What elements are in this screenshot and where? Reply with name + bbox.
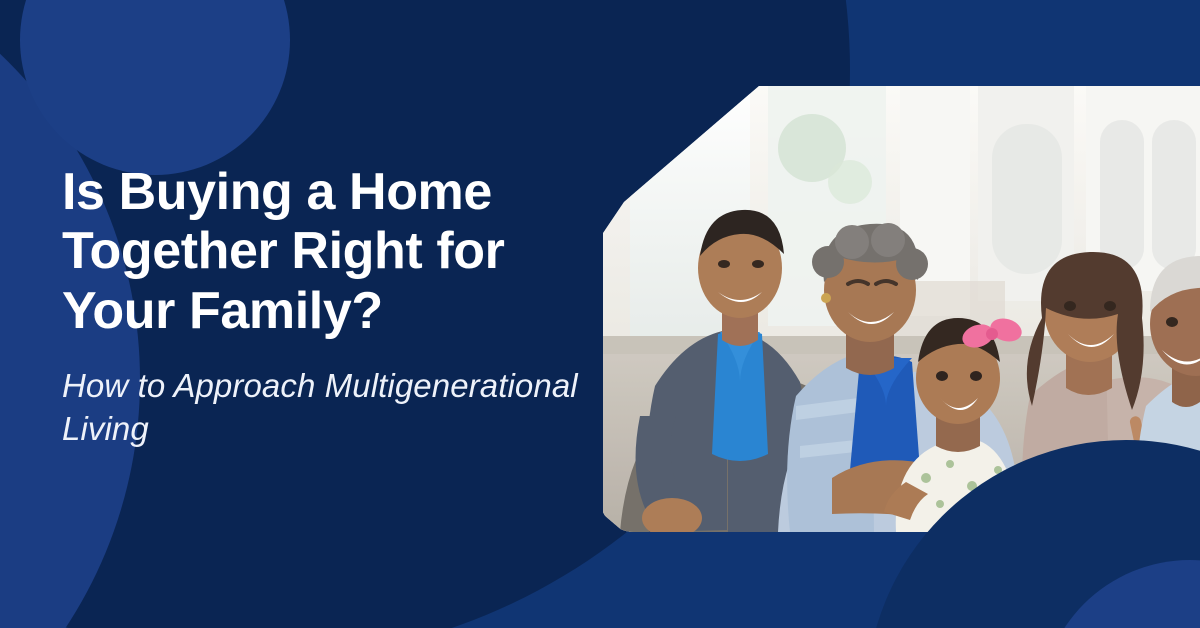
page-subtitle: How to Approach Multigenerational Living xyxy=(62,341,582,451)
promo-banner: Is Buying a Home Together Right for Your… xyxy=(0,0,1200,628)
page-title: Is Buying a Home Together Right for Your… xyxy=(62,163,582,341)
banner-copy: Is Buying a Home Together Right for Your… xyxy=(62,163,582,451)
